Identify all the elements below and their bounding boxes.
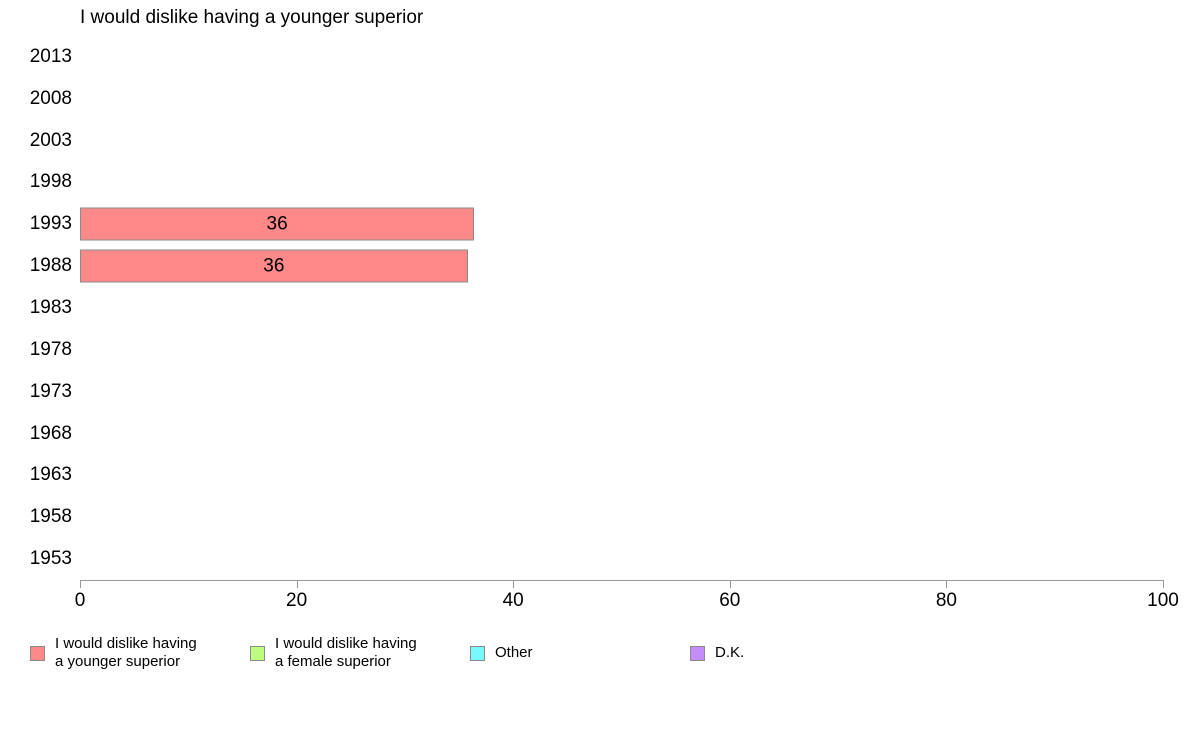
legend-swatch-icon: [690, 646, 705, 661]
legend-label: D.K.: [715, 644, 744, 662]
legend-label: Other: [495, 644, 533, 662]
x-axis-tick: [297, 580, 298, 588]
y-axis-tick-label: 1998: [30, 171, 72, 193]
bar-1988[interactable]: 36: [80, 250, 468, 283]
y-axis-tick-label: 1973: [30, 381, 72, 403]
y-axis-tick-label: 1978: [30, 339, 72, 361]
x-axis-tick: [946, 580, 947, 588]
chart-row-2003: 2003: [80, 120, 1163, 162]
bar-value-label: 36: [263, 257, 284, 276]
y-axis-tick-label: 1958: [30, 506, 72, 528]
x-axis-tick-label: 40: [503, 590, 524, 612]
legend-item-3[interactable]: Other: [470, 630, 533, 676]
x-axis: 020406080100: [80, 580, 1163, 581]
plot-area: 2013200820031998199336198836198319781973…: [80, 36, 1163, 580]
legend-item-2[interactable]: I would dislike having a female superior: [250, 630, 417, 676]
y-axis-tick-label: 1968: [30, 423, 72, 445]
chart-row-1978: 1978: [80, 329, 1163, 371]
chart-row-1958: 1958: [80, 496, 1163, 538]
legend-item-4[interactable]: D.K.: [690, 630, 744, 676]
chart-row-1988: 198836: [80, 245, 1163, 287]
page-title: I would dislike having a younger superio…: [80, 6, 423, 30]
bar-chart: I would dislike having a younger superio…: [0, 0, 1188, 736]
chart-row-1998: 1998: [80, 162, 1163, 204]
legend-item-1[interactable]: I would dislike having a younger superio…: [30, 630, 197, 676]
y-axis-tick-label: 1993: [30, 213, 72, 235]
x-axis-tick: [513, 580, 514, 588]
legend-label: I would dislike having a female superior: [275, 635, 417, 671]
chart-row-1993: 199336: [80, 203, 1163, 245]
x-axis-tick-label: 100: [1147, 590, 1179, 612]
x-axis-tick: [1163, 580, 1164, 588]
y-axis-tick-label: 2013: [30, 46, 72, 68]
chart-row-1968: 1968: [80, 413, 1163, 455]
y-axis-tick-label: 2003: [30, 130, 72, 152]
x-axis-tick-label: 60: [719, 590, 740, 612]
legend-swatch-icon: [470, 646, 485, 661]
chart-row-1973: 1973: [80, 371, 1163, 413]
x-axis-tick-label: 20: [286, 590, 307, 612]
chart-row-1953: 1953: [80, 538, 1163, 580]
x-axis-tick: [730, 580, 731, 588]
x-axis-tick: [80, 580, 81, 588]
y-axis-tick-label: 1983: [30, 297, 72, 319]
legend-label: I would dislike having a younger superio…: [55, 635, 197, 671]
bar-1993[interactable]: 36: [80, 208, 474, 241]
y-axis-tick-label: 1953: [30, 548, 72, 570]
legend-swatch-icon: [250, 646, 265, 661]
chart-legend: I would dislike having a younger superio…: [0, 630, 1188, 690]
chart-row-1983: 1983: [80, 287, 1163, 329]
chart-row-1963: 1963: [80, 454, 1163, 496]
bar-value-label: 36: [267, 215, 288, 234]
x-axis-tick-label: 80: [936, 590, 957, 612]
chart-row-2008: 2008: [80, 78, 1163, 120]
legend-swatch-icon: [30, 646, 45, 661]
x-axis-tick-label: 0: [75, 590, 86, 612]
chart-row-2013: 2013: [80, 36, 1163, 78]
y-axis-tick-label: 1988: [30, 255, 72, 277]
y-axis-tick-label: 1963: [30, 464, 72, 486]
y-axis-tick-label: 2008: [30, 88, 72, 110]
